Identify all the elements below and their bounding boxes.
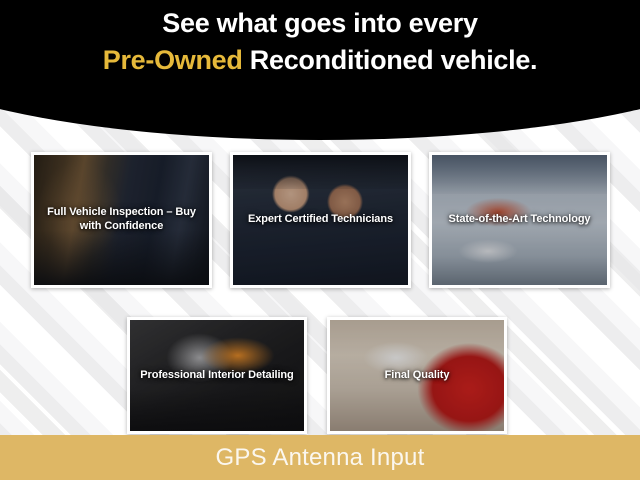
header-banner: See what goes into every Pre-Owned Recon… (0, 0, 640, 140)
service-bay-car-lifts-photo: State-of-the-Art Technology (432, 155, 607, 285)
interior-steam-cleaning-photo: Professional Interior Detailing (130, 320, 304, 431)
caption-text: GPS Antenna Input (216, 444, 425, 472)
feature-card-label: Expert Certified Technicians (244, 213, 397, 227)
caption-bar: GPS Antenna Input (0, 435, 640, 480)
feature-card-label: Full Vehicle Inspection – Buy with Confi… (34, 206, 209, 234)
feature-card-professional-interior-detailing[interactable]: Professional Interior Detailing (127, 317, 307, 434)
mechanic-inspecting-engine-photo: Full Vehicle Inspection – Buy with Confi… (34, 155, 209, 285)
vehicle-reconditioning-infographic: See what goes into every Pre-Owned Recon… (0, 0, 640, 480)
feature-card-label: Professional Interior Detailing (136, 369, 297, 383)
headline-line-2: Pre-Owned Reconditioned vehicle. (103, 43, 538, 78)
feature-card-label: Final Quality (381, 369, 454, 383)
feature-card-final-quality[interactable]: Final Quality (327, 317, 507, 434)
headline-highlight-pre-owned: Pre-Owned (103, 45, 243, 75)
feature-card-expert-certified-technicians[interactable]: Expert Certified Technicians (230, 152, 411, 288)
two-technicians-in-shop-photo: Expert Certified Technicians (233, 155, 408, 285)
header-content: See what goes into every Pre-Owned Recon… (0, 0, 640, 140)
feature-card-state-of-the-art-technology[interactable]: State-of-the-Art Technology (429, 152, 610, 288)
feature-card-label: State-of-the-Art Technology (445, 213, 595, 227)
headline-line-1: See what goes into every (162, 6, 477, 41)
feature-card-full-vehicle-inspection[interactable]: Full Vehicle Inspection – Buy with Confi… (31, 152, 212, 288)
red-car-final-inspection-photo: Final Quality (330, 320, 504, 431)
headline-line-2-rest: Reconditioned vehicle. (243, 45, 538, 75)
